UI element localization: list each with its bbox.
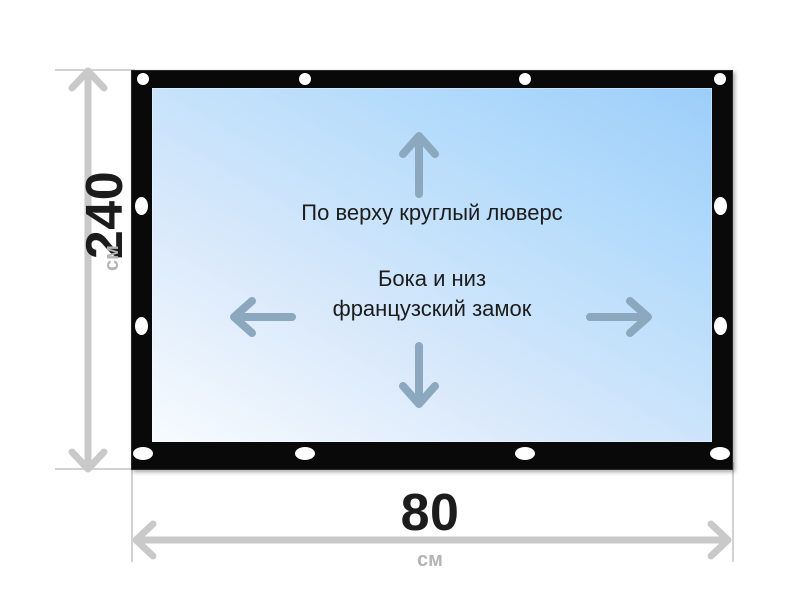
- height-unit-label: см: [99, 208, 125, 308]
- width-value-label: 80: [330, 484, 530, 542]
- arrow-down-icon: [398, 342, 440, 412]
- grommet-hole-icon: [714, 317, 727, 335]
- arrow-up-icon: [398, 128, 440, 198]
- curtain-fabric: По верху круглый люверс Бока и низ франц…: [152, 88, 712, 442]
- grommet-hole-icon: [519, 73, 531, 85]
- width-unit-label: см: [380, 548, 480, 572]
- grommet-hole-icon: [714, 197, 727, 215]
- grommet-hole-icon: [133, 447, 153, 460]
- curtain-frame: По верху круглый люверс Бока и низ франц…: [131, 70, 733, 470]
- grommet-hole-icon: [714, 73, 726, 85]
- grommet-hole-icon: [515, 447, 535, 460]
- curtain-size-diagram: По верху круглый люверс Бока и низ франц…: [0, 0, 800, 600]
- grommet-hole-icon: [299, 73, 311, 85]
- top-grommet-label: По верху круглый люверс: [152, 198, 712, 228]
- grommet-hole-icon: [135, 317, 148, 335]
- grommet-hole-icon: [295, 447, 315, 460]
- sides-lock-label-line2: французский замок: [152, 294, 712, 324]
- sides-lock-label-line1: Бока и низ: [152, 264, 712, 294]
- grommet-hole-icon: [137, 73, 149, 85]
- grommet-hole-icon: [135, 197, 148, 215]
- grommet-hole-icon: [710, 447, 730, 460]
